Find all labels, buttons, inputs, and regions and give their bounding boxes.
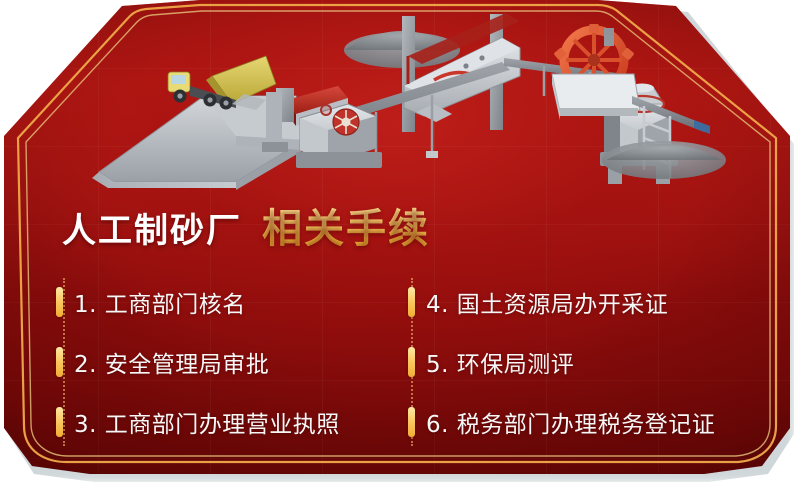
screen-support-legs-icon	[408, 18, 496, 130]
list-item-label: 6. 税务部门办理税务登记证	[426, 405, 715, 439]
feed-platform-icon	[92, 96, 304, 190]
list-item-label: 5. 环保局测评	[426, 345, 574, 379]
gold-bar-marker-icon	[408, 407, 415, 437]
finished-sand-pile-icon	[602, 141, 726, 179]
sand-making-machine-icon	[600, 84, 678, 185]
procedures-list: 1. 工商部门核名 2. 安全管理局审批 3. 工商部门办理营业执照 4. 国土…	[56, 272, 756, 452]
belt-conveyor-secondary-icon	[504, 58, 624, 100]
belt-conveyor-main-icon	[209, 62, 510, 166]
jaw-crusher-icon	[296, 104, 382, 168]
procedures-column-left: 1. 工商部门核名 2. 安全管理局审批 3. 工商部门办理营业执照	[56, 272, 404, 452]
gold-bar-marker-icon	[408, 287, 415, 317]
wheel-sand-washer-icon	[552, 24, 640, 120]
vibrating-feeder-icon	[276, 86, 348, 126]
ladder-icon	[644, 106, 670, 178]
truck-chassis-icon	[190, 86, 236, 108]
gold-bar-marker-icon	[56, 287, 63, 317]
procedures-column-right: 4. 国土资源局办开采证 5. 环保局测评 6. 税务部门办理税务登记证	[404, 272, 756, 452]
washer-wheel-rim-icon	[564, 30, 624, 90]
screen-leg-right-icon	[490, 14, 503, 130]
gold-bar-marker-icon	[56, 347, 63, 377]
list-item[interactable]: 1. 工商部门核名	[56, 272, 404, 332]
list-item[interactable]: 5. 环保局测评	[408, 332, 756, 392]
discharge-conveyor-icon	[632, 96, 710, 178]
vibrating-screen-icon	[404, 14, 520, 122]
screen-leg-left-icon	[402, 16, 415, 132]
list-item-label: 2. 安全管理局审批	[74, 345, 269, 379]
title-highlight: 相关手续	[262, 196, 430, 254]
dump-truck-icon	[168, 56, 276, 110]
truck-cab-icon	[168, 72, 190, 92]
list-item[interactable]: 4. 国土资源局办开采证	[408, 272, 756, 332]
left-support-structure-icon	[262, 92, 288, 152]
list-item[interactable]: 6. 税务部门办理税务登记证	[408, 392, 756, 452]
list-item[interactable]: 2. 安全管理局审批	[56, 332, 404, 392]
aggregate-pile-icon	[344, 31, 460, 68]
list-item[interactable]: 3. 工商部门办理营业执照	[56, 392, 404, 452]
banner-title: 人工制砂厂 相关手续	[62, 196, 430, 254]
list-item-label: 4. 国土资源局办开采证	[426, 285, 668, 319]
jaw-crusher-base-icon	[296, 152, 382, 168]
gold-bar-marker-icon	[56, 407, 63, 437]
washer-tank-icon	[552, 74, 640, 112]
gold-bar-marker-icon	[408, 347, 415, 377]
list-item-label: 1. 工商部门核名	[74, 285, 246, 319]
banner-root: 人工制砂厂 相关手续 1. 工商部门核名 2. 安全管理局审批 3. 工商部门办…	[0, 0, 800, 500]
flywheel-icon	[333, 109, 359, 135]
title-primary: 人工制砂厂	[62, 203, 242, 252]
list-item-label: 3. 工商部门办理营业执照	[74, 405, 340, 439]
